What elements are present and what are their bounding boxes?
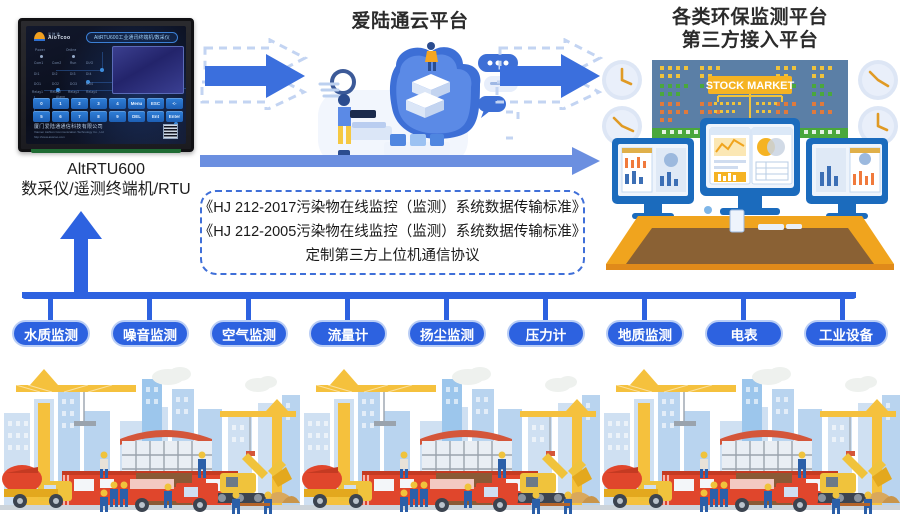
brand-mark-icon: [34, 32, 45, 41]
tree-drop: [147, 298, 152, 320]
sensor-pill-air[interactable]: 空气监测: [210, 320, 288, 347]
solid-arrow: [500, 54, 600, 98]
keypad-key: 6: [52, 111, 69, 122]
keypad-key: Ent: [147, 111, 164, 122]
protocol-line: 《HJ 212-2005污染物在线监控（监测）系统数据传输标准》: [199, 222, 587, 243]
status-lamp: [40, 55, 43, 58]
rtu-device-block: 爱 陆 通 AioTcoo AltRTU600工业通讯终端机/数采仪 Power…: [18, 18, 194, 200]
device-lcd-screen: [112, 46, 184, 94]
sensor-pill-dust[interactable]: 扬尘监测: [408, 320, 486, 347]
sensor-pill-water[interactable]: 水质监测: [12, 320, 90, 347]
sensor-tree: 水质监测 噪音监测 空气监测 流量计 扬尘监测 压力计 地质监测 电表 工业设备: [0, 282, 900, 354]
indicator-label: DO4: [86, 82, 93, 86]
relay-label: Relay4: [86, 90, 97, 94]
monitoring-platform-title: 各类环保监测平台 第三方接入平台: [600, 6, 900, 52]
tree-bus-cap: [22, 292, 29, 298]
status-lamp: [72, 55, 75, 58]
indicator-label: DO2: [52, 82, 59, 86]
indicator-label: DI4: [86, 72, 92, 76]
device-keypad: 0 1 2 3 4 Menu ESC <- 5 6 7 8 9 DEL Ent …: [33, 98, 183, 122]
keypad-key: ESC: [147, 98, 164, 109]
keypad-key: <-: [166, 98, 183, 109]
circuit-node: [100, 68, 104, 72]
sensor-pill-noise[interactable]: 噪音监测: [111, 320, 189, 347]
indicator-label: DO1: [34, 82, 41, 86]
keypad-key: 3: [90, 98, 107, 109]
indicator-label: Com2: [52, 61, 61, 65]
stock-board-label: STOCK MARKET: [706, 80, 795, 92]
protocol-line: 定制第三方上位机通信协议: [306, 246, 480, 267]
indicator-label: DI2: [52, 72, 58, 76]
clock-icon: [602, 60, 642, 100]
relay-label: Relay3: [68, 90, 79, 94]
arrow-device-to-platform-direct: [200, 145, 600, 177]
device-base-strip: [31, 149, 181, 153]
indicator-label: DI/O: [86, 61, 93, 65]
keypad-key: 2: [71, 98, 88, 109]
keypad-key: 1: [52, 98, 69, 109]
device-footer: 厦门爱陆通通信科技有限公司 Xiamen AioNon Communicatio…: [34, 125, 104, 140]
construction-tile: [300, 367, 600, 525]
circuit-trace: [56, 70, 102, 71]
protocol-line: 《HJ 212-2017污染物在线监控（监测）系统数据传输标准》: [199, 198, 587, 219]
keypad-key: 0: [33, 98, 50, 109]
sensor-pill-meter[interactable]: 电表: [705, 320, 783, 347]
rtu-device-image: 爱 陆 通 AioTcoo AltRTU600工业通讯终端机/数采仪 Power…: [18, 18, 194, 152]
keypad-key: 4: [109, 98, 126, 109]
protocol-standards-box: 《HJ 212-2017污染物在线监控（监测）系统数据传输标准》 《HJ 212…: [200, 190, 585, 275]
lamp-label-online: Online: [66, 48, 76, 52]
tree-drop: [345, 298, 350, 320]
keypad-key: Enter: [166, 111, 183, 122]
keypad-key: 9: [109, 111, 126, 122]
smartphone-icon: [730, 210, 744, 232]
arrow-cloud-to-platform: [495, 38, 605, 110]
tree-drop: [444, 298, 449, 320]
device-model-banner: AltRTU600工业通讯终端机/数采仪: [86, 32, 178, 43]
cloud-platform-title: 爱陆通云平台: [300, 10, 520, 33]
sensor-pill-industrial[interactable]: 工业设备: [804, 320, 888, 347]
sensor-pill-geology[interactable]: 地质监测: [606, 320, 684, 347]
tree-drop: [48, 298, 53, 320]
tree-drop: [840, 298, 845, 320]
keypad-key: 7: [71, 111, 88, 122]
relay-label: Relay1: [32, 90, 43, 94]
qr-code-icon: [163, 124, 178, 139]
device-logo: 爱 陆 通 AioTcoo: [34, 32, 70, 41]
device-front-panel: 爱 陆 通 AioTcoo AltRTU600工业通讯终端机/数采仪 Power…: [26, 26, 186, 144]
tree-drop: [642, 298, 647, 320]
indicator-label: Run: [70, 61, 76, 65]
construction-tile: [600, 367, 900, 525]
clock-icon: [858, 60, 898, 100]
indicator-label: DI1: [34, 72, 40, 76]
sensor-pill-flowmeter[interactable]: 流量计: [309, 320, 387, 347]
keypad-key: 5: [33, 111, 50, 122]
device-website: http://www.aiotcoo.com: [34, 135, 104, 140]
solid-arrow: [205, 54, 305, 98]
device-caption: AltRTU600 数采仪/遥测终端机/RTU: [18, 160, 194, 200]
lamp-label-power: Power: [35, 48, 45, 52]
tree-drop: [246, 298, 251, 320]
keypad-key: DEL: [128, 111, 145, 122]
keypad-key: 8: [90, 111, 107, 122]
arrow-device-to-cloud: [200, 38, 310, 110]
tree-drop: [543, 298, 548, 320]
relay-label: Relay2: [50, 90, 61, 94]
third-party-platform-illustration: STOCK MARKET: [600, 58, 900, 280]
keypad-key: Menu: [128, 98, 145, 109]
tree-bus-cap: [849, 292, 856, 298]
sensor-pill-pressure[interactable]: 压力计: [507, 320, 585, 347]
indicator-label: DO3: [70, 82, 77, 86]
diagram-canvas: 爱陆通云平台 各类环保监测平台 第三方接入平台: [0, 0, 900, 525]
construction-tile: [0, 367, 300, 525]
tree-drop: [741, 298, 746, 320]
device-logo-text: AioTcoo: [48, 36, 70, 41]
indicator-label: DI3: [70, 72, 76, 76]
indicator-label: Com1: [34, 61, 43, 65]
construction-site-illustration: [0, 355, 900, 525]
